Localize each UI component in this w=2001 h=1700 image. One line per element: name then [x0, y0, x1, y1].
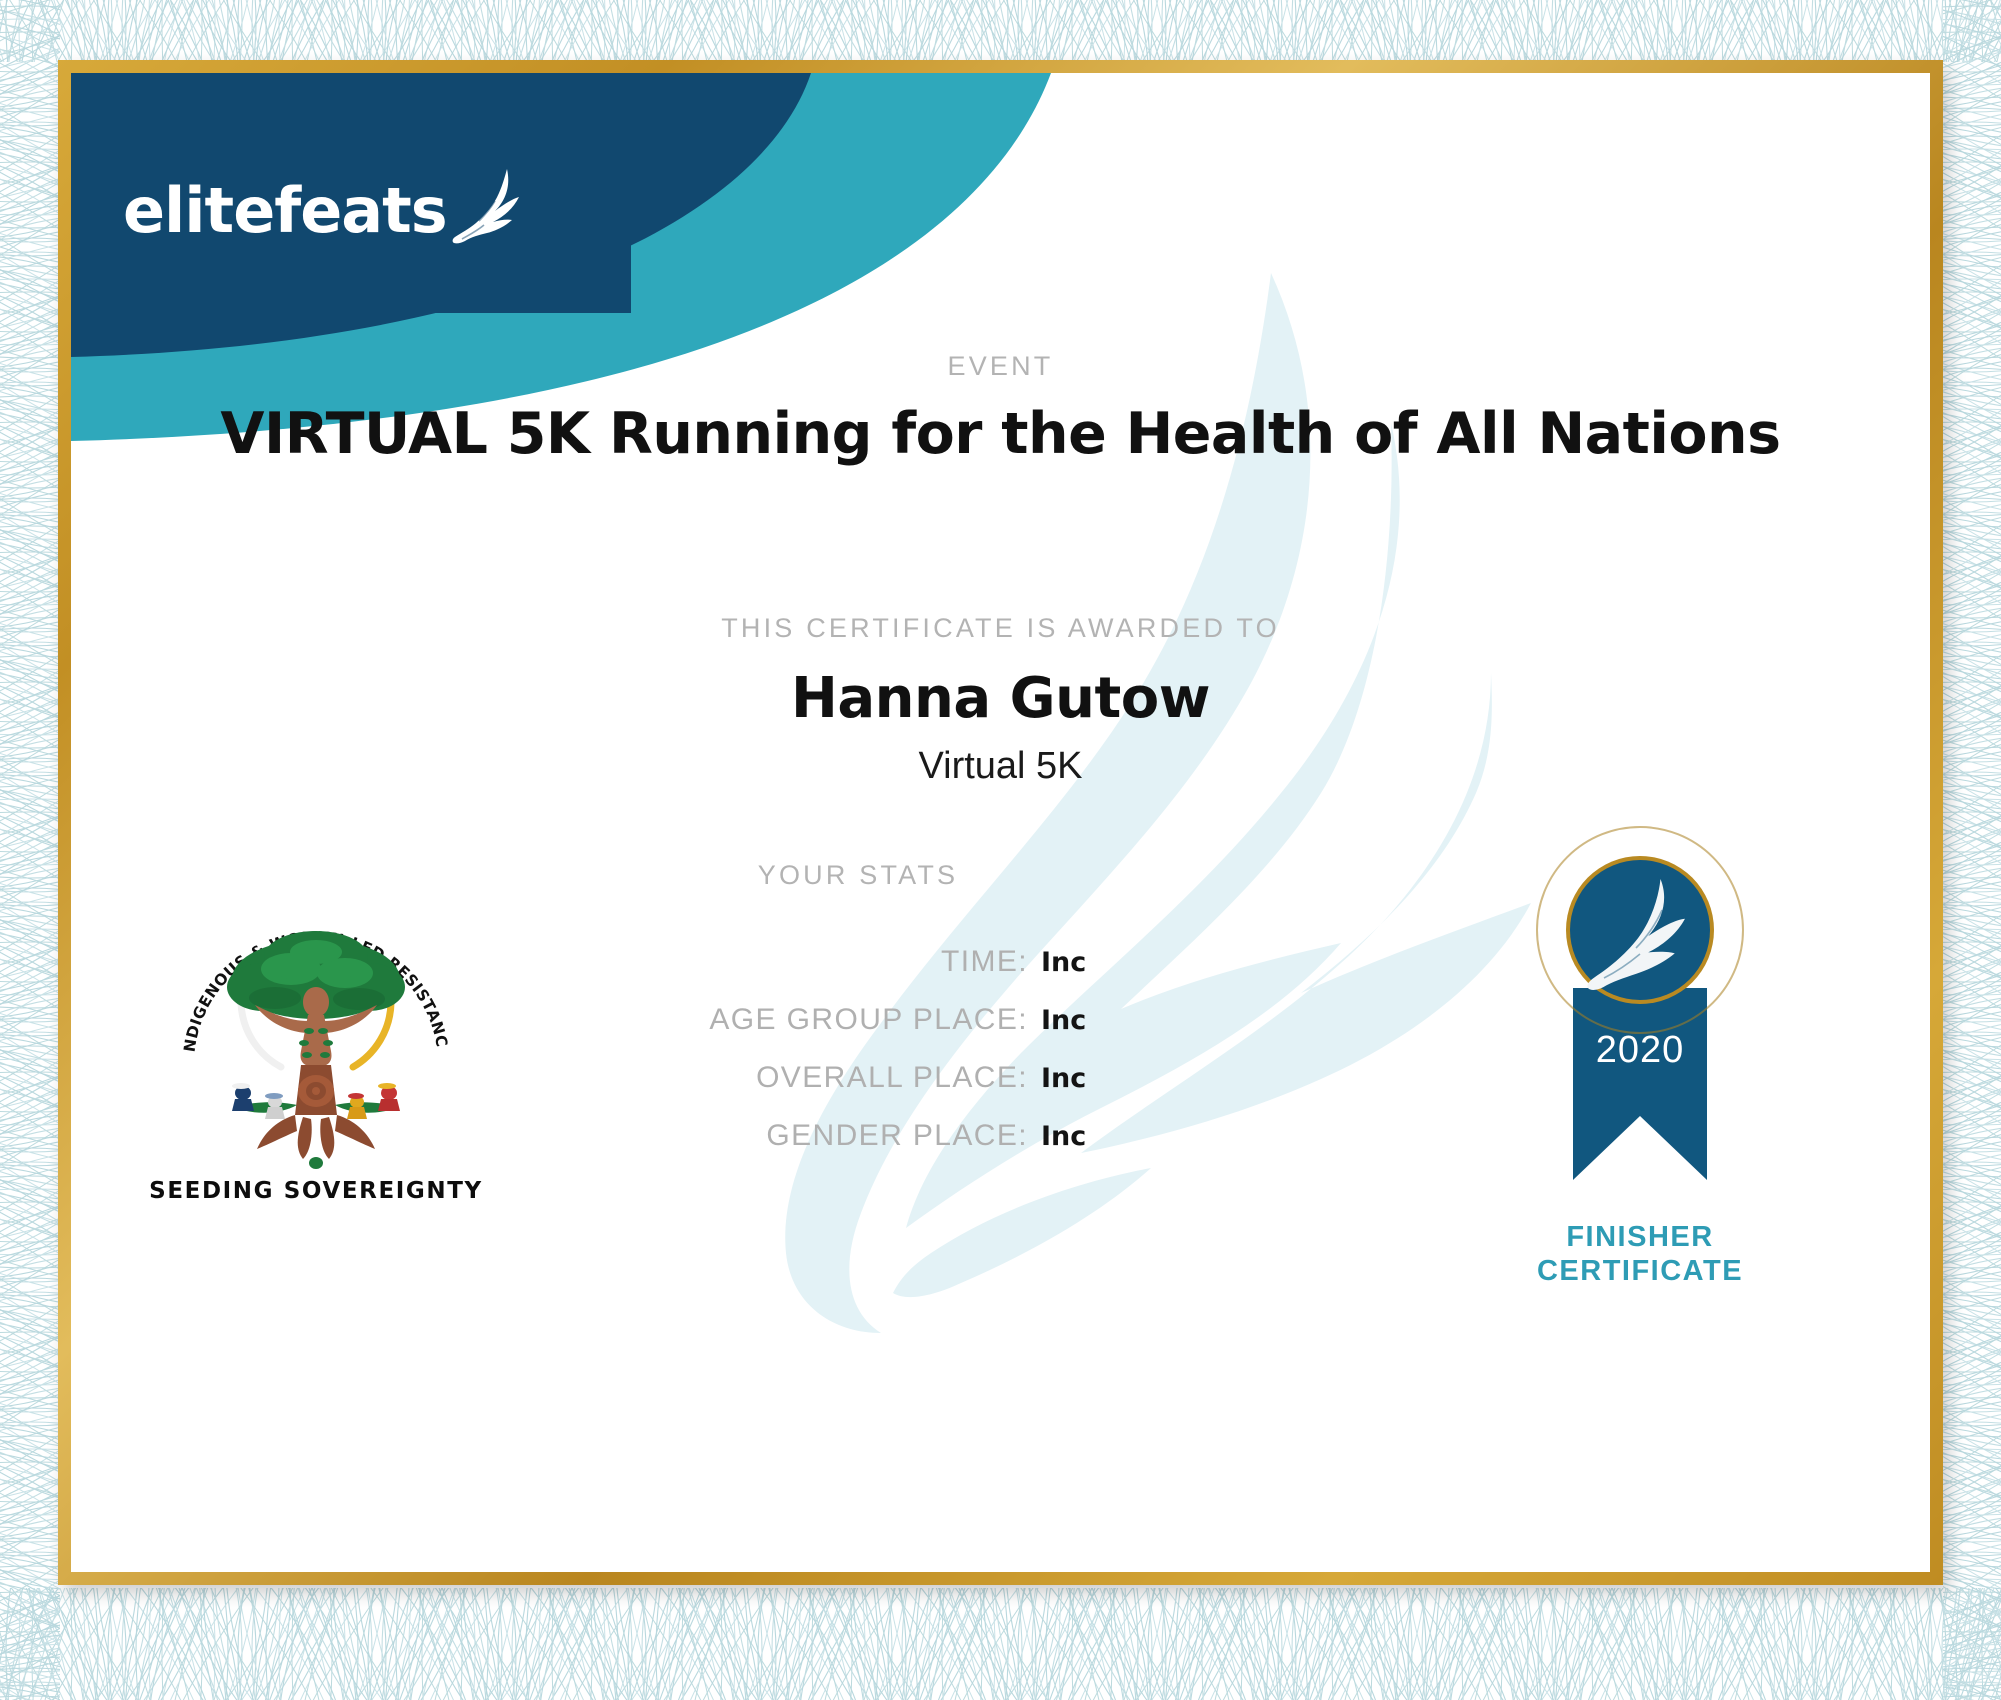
awarded-to-label: THIS CERTIFICATE IS AWARDED TO: [71, 613, 1930, 644]
stats-table: TIME: Inc AGE GROUP PLACE: Inc OVERALL P…: [401, 945, 1161, 1177]
badge-caption-line1: FINISHER: [1445, 1220, 1835, 1254]
tree-woman-icon: INDIGENOUS & WOMXN-LED RESISTANCE: [171, 853, 461, 1183]
stat-row: OVERALL PLACE: Inc: [401, 1061, 1161, 1119]
stat-label: AGE GROUP PLACE:: [709, 1003, 1028, 1037]
stat-label: GENDER PLACE:: [766, 1119, 1028, 1153]
partner-caption: SEEDING SOVEREIGNTY: [131, 1178, 501, 1204]
badge-caption: FINISHER CERTIFICATE: [1445, 1220, 1835, 1288]
recipient-subtitle: Virtual 5K: [71, 745, 1930, 788]
stat-label: OVERALL PLACE:: [756, 1061, 1028, 1095]
stat-value: Inc: [1041, 947, 1161, 978]
certificate-content: EVENT VIRTUAL 5K Running for the Health …: [71, 73, 1930, 1572]
gold-medal-winged-shoe-icon: 0%#efd99a 22%#c9a13a 45%#f6e9b4 68%#c295…: [1445, 788, 1835, 1218]
stat-row: TIME: Inc: [401, 945, 1161, 1003]
certificate-gold-frame: 0%#c99329 elitefeats: [58, 60, 1943, 1585]
winged-shoe-icon: [449, 165, 527, 251]
stat-value: Inc: [1041, 1005, 1161, 1036]
certificate-body: 0%#c99329 elitefeats: [71, 73, 1930, 1572]
recipient-name: Hanna Gutow: [71, 666, 1930, 731]
stat-row: GENDER PLACE: Inc: [401, 1119, 1161, 1177]
certificate-page: 0%#c99329 elitefeats: [0, 0, 2001, 1700]
stat-label: TIME:: [941, 945, 1028, 979]
stat-value: Inc: [1041, 1121, 1161, 1152]
event-title: VIRTUAL 5K Running for the Health of All…: [151, 403, 1850, 466]
brand-logo-text: elitefeats: [123, 182, 447, 241]
event-kicker-label: EVENT: [71, 351, 1930, 382]
stat-row: AGE GROUP PLACE: Inc: [401, 1003, 1161, 1061]
brand-logo: elitefeats: [123, 165, 527, 241]
finisher-badge: 0%#efd99a 22%#c9a13a 45%#f6e9b4 68%#c295…: [1445, 788, 1835, 1288]
stat-value: Inc: [1041, 1063, 1161, 1094]
badge-caption-line2: CERTIFICATE: [1445, 1254, 1835, 1288]
